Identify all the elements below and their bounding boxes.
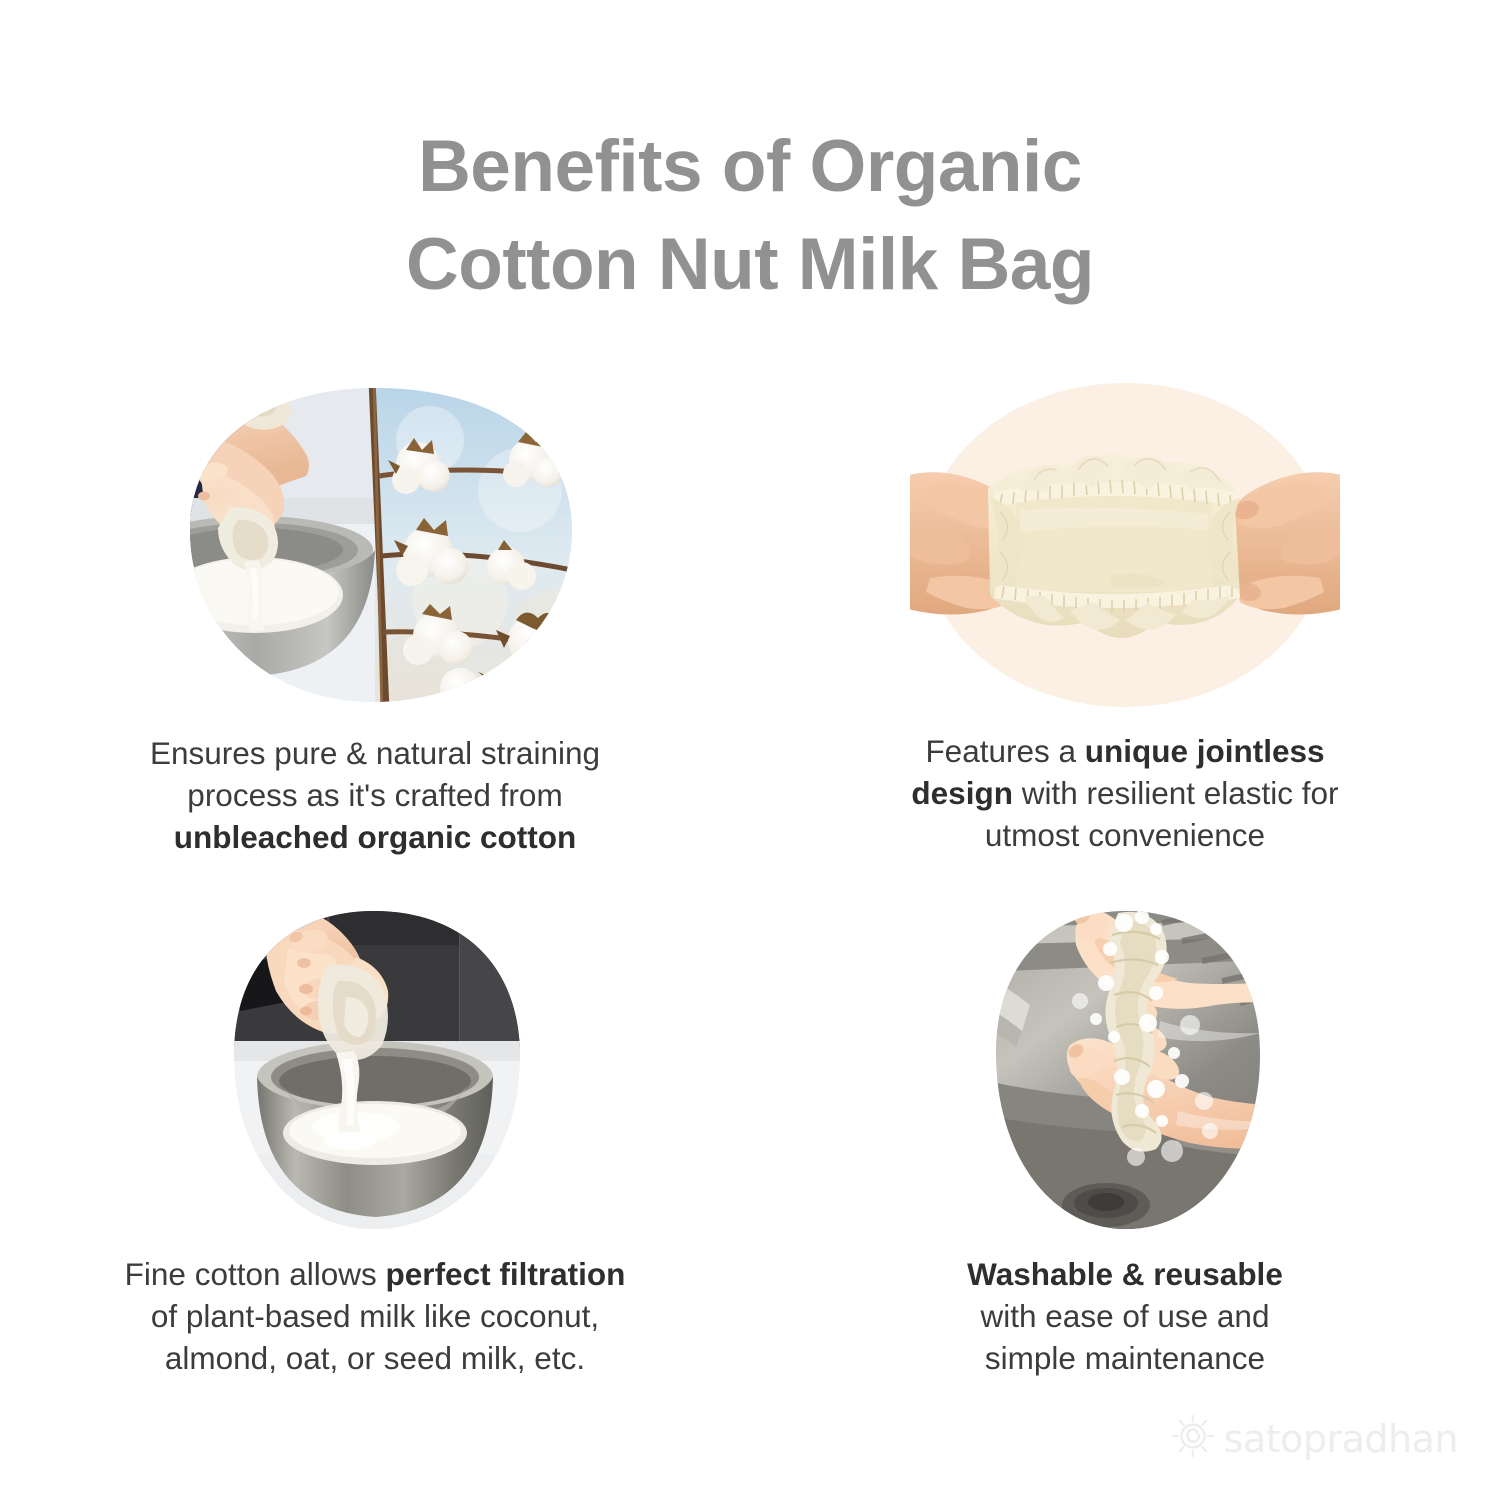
benefit-caption-organic-cotton: Ensures pure & natural straining process… [115, 732, 635, 859]
caption-text-regular-a: Fine cotton allows [125, 1256, 386, 1292]
benefit-card-organic-cotton: Ensures pure & natural straining process… [0, 380, 750, 905]
caption-text-bold: Washable & reusable [967, 1256, 1283, 1292]
page-title: Benefits of Organic Cotton Nut Milk Bag [0, 118, 1500, 314]
sun-spiral-icon [1170, 1413, 1216, 1464]
page-title-line-1: Benefits of Organic [0, 118, 1500, 216]
benefit-card-jointless-design: Features a unique jointless design with … [750, 380, 1500, 905]
image-hands-stretching-elastic-bag-opening [910, 380, 1340, 710]
caption-text-bold: perfect filtration [386, 1256, 626, 1292]
benefit-caption-jointless-design: Features a unique jointless design with … [875, 730, 1375, 857]
caption-text-regular-b: of plant-based milk like coconut, almond… [151, 1298, 599, 1376]
page-title-line-2: Cotton Nut Milk Bag [0, 216, 1500, 314]
benefit-card-perfect-filtration: Fine cotton allows perfect filtration of… [0, 905, 750, 1425]
caption-text-regular-b: with resilient elastic for utmost conven… [985, 775, 1339, 853]
benefit-card-washable-reusable: Washable & reusable with ease of use and… [750, 905, 1500, 1425]
brand-name: satopradhan [1224, 1417, 1458, 1461]
benefits-grid: Ensures pure & natural straining process… [0, 380, 1500, 1425]
benefit-caption-washable-reusable: Washable & reusable with ease of use and… [925, 1253, 1325, 1380]
infographic-page: Benefits of Organic Cotton Nut Milk Bag [0, 0, 1500, 1500]
image-hands-straining-nut-milk-and-cotton-bolls [160, 380, 590, 710]
brand-watermark: satopradhan [1170, 1413, 1458, 1464]
image-hands-squeezing-bag-over-steel-pot [160, 905, 590, 1235]
caption-text-bold: unbleached organic cotton [174, 819, 577, 855]
image-hands-washing-bag-in-sink-with-suds [910, 905, 1340, 1235]
caption-text-regular-a: Features a [925, 733, 1084, 769]
benefit-caption-perfect-filtration: Fine cotton allows perfect filtration of… [85, 1253, 665, 1380]
caption-text-regular: Ensures pure & natural straining process… [150, 735, 600, 813]
caption-text-regular: with ease of use and simple maintenance [981, 1298, 1270, 1376]
